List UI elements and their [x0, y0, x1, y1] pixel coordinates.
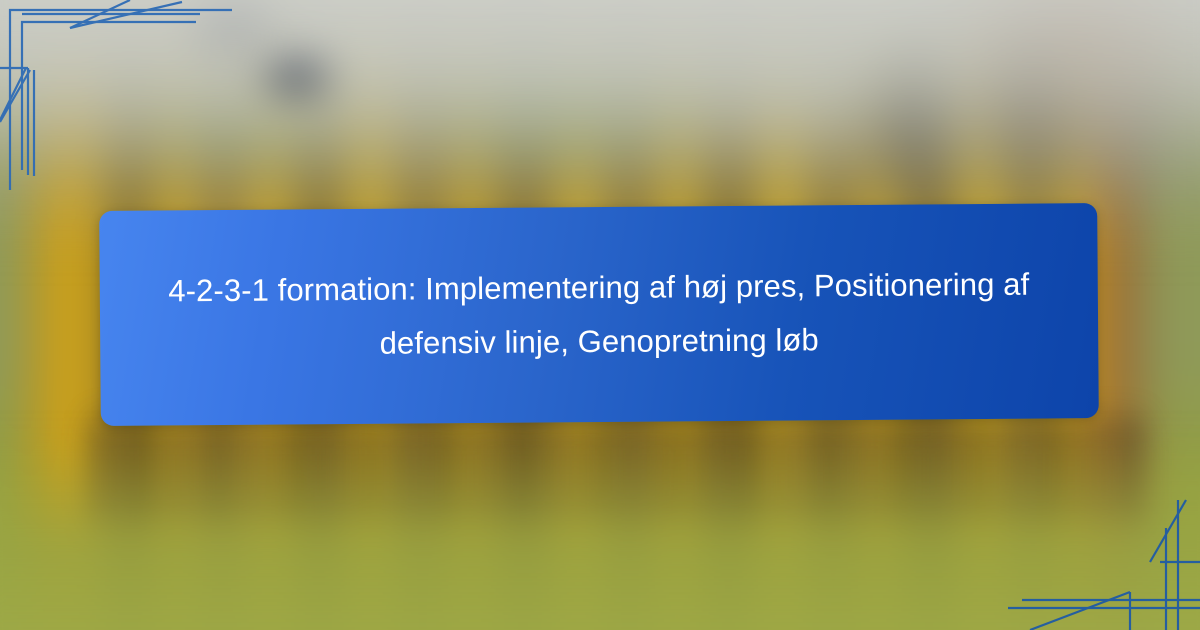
share-card: 4-2-3-1 formation: Implementering af høj… — [0, 0, 1200, 630]
background-grass — [0, 440, 1200, 630]
headline-text: 4-2-3-1 formation: Implementering af høj… — [115, 257, 1084, 373]
headline-banner: 4-2-3-1 formation: Implementering af høj… — [99, 203, 1099, 426]
